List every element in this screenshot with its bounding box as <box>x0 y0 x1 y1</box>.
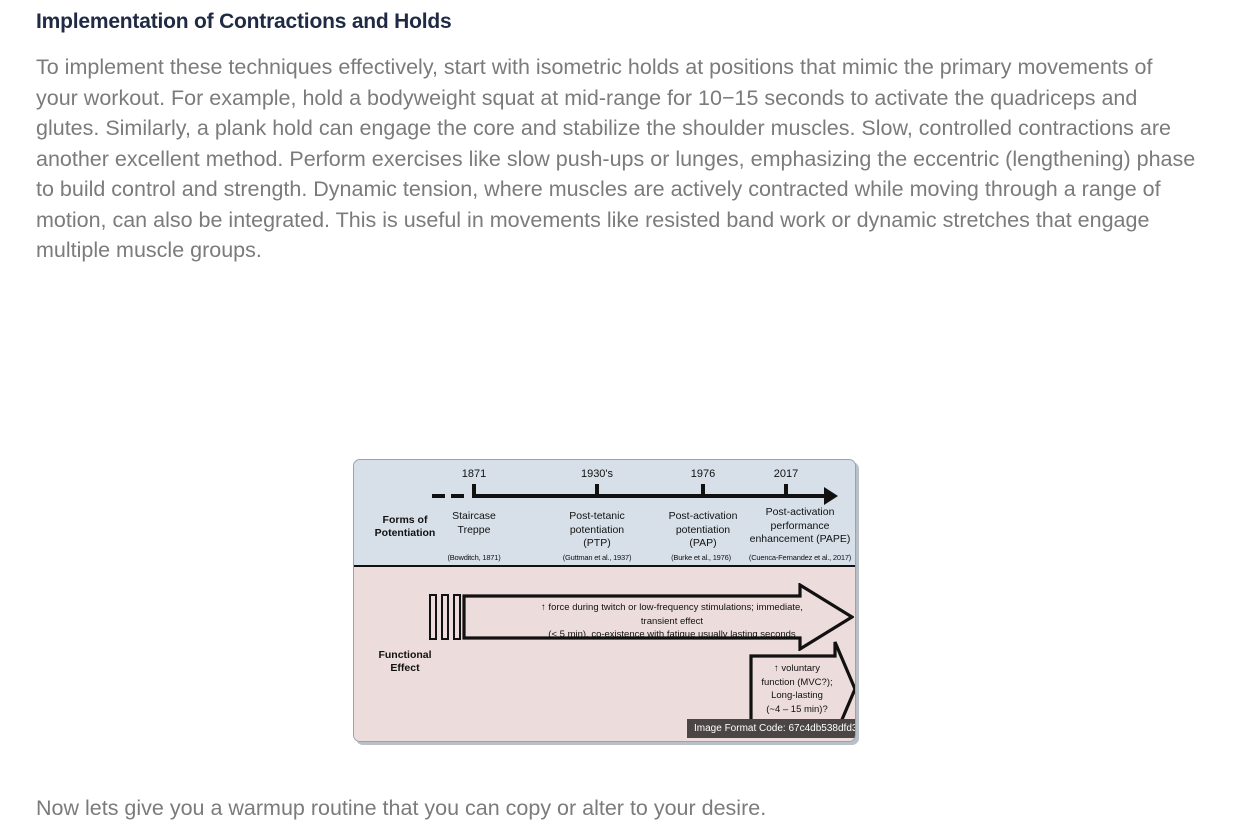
citation-cuenca-fernandez: (Cuenca-Fernandez et al., 2017) <box>744 553 856 563</box>
image-format-code-watermark: Image Format Code: 67c4db538dfd3 <box>687 719 856 738</box>
twitch-bar <box>453 594 461 640</box>
form-name-line1: Post-activation <box>746 506 854 520</box>
citation-bowditch: (Bowditch, 1871) <box>430 553 518 563</box>
form-name-line3: (PAP) <box>657 537 749 551</box>
secondary-effect-text: ↑ voluntary function (MVC?); Long-lastin… <box>757 662 837 716</box>
citation-guttman: (Guttman et al., 1937) <box>553 553 641 563</box>
form-name-line1: Post-tetanic <box>555 510 639 524</box>
form-name-staircase-treppe: Staircase Treppe <box>432 510 516 537</box>
form-name-line1: Post-activation <box>657 510 749 524</box>
form-name-line3: enhancement (PAPE) <box>746 533 854 547</box>
form-name-line2: potentiation <box>555 524 639 538</box>
timeline-year-2017: 2017 <box>746 468 826 481</box>
timeline-dash-1 <box>432 494 445 498</box>
timeline-tick-2017 <box>784 484 788 497</box>
timeline-dash-2 <box>451 494 464 498</box>
timeline-arrowhead-icon <box>824 487 838 505</box>
secondary-effect-line3: Long-lasting <box>757 689 837 703</box>
row-label-functional-line1: Functional <box>362 649 448 662</box>
citation-burke: (Burke et al., 1976) <box>657 553 745 563</box>
document-page: Implementation of Contractions and Holds… <box>0 0 1256 837</box>
page-title: Implementation of Contractions and Holds <box>36 0 1220 35</box>
form-name-line2: Treppe <box>432 524 516 538</box>
timeline-tick-1976 <box>701 484 705 497</box>
form-name-line3: (PTP) <box>555 537 639 551</box>
row-label-functional-effect: Functional Effect <box>362 649 448 675</box>
secondary-effect-line1: ↑ voluntary <box>757 662 837 676</box>
figure-frame: Forms of Potentiation Functional Effect … <box>353 459 856 742</box>
timeline-year-1871: 1871 <box>434 468 514 481</box>
timeline-axis <box>472 494 830 498</box>
timeline-year-1930s: 1930's <box>557 468 637 481</box>
form-name-post-activation-performance-enhancement: Post-activation performance enhancement … <box>746 506 854 547</box>
timeline-year-1976: 1976 <box>663 468 743 481</box>
timeline-tick-1930s <box>595 484 599 497</box>
form-name-line1: Staircase <box>432 510 516 524</box>
article-body-paragraph: To implement these techniques effectivel… <box>36 35 1196 266</box>
form-name-post-tetanic-potentiation: Post-tetanic potentiation (PTP) <box>555 510 639 551</box>
potentiation-timeline-figure: Forms of Potentiation Functional Effect … <box>353 459 856 742</box>
twitch-bar <box>429 594 437 640</box>
form-name-line2: performance <box>746 520 854 534</box>
form-name-line2: potentiation <box>657 524 749 538</box>
primary-effect-text: ↑ force during twitch or low-frequency s… <box>522 601 822 642</box>
secondary-effect-line4: (~4 – 15 min)? <box>757 703 837 717</box>
row-label-functional-line2: Effect <box>362 662 448 675</box>
timeline-tick-1871 <box>472 484 476 497</box>
twitch-bars-group <box>429 594 461 640</box>
secondary-effect-line2: function (MVC?); <box>757 676 837 690</box>
primary-effect-line1: ↑ force during twitch or low-frequency s… <box>522 601 822 628</box>
form-name-post-activation-potentiation: Post-activation potentiation (PAP) <box>657 510 749 551</box>
closing-paragraph: Now lets give you a warmup routine that … <box>36 793 766 823</box>
twitch-bar <box>441 594 449 640</box>
